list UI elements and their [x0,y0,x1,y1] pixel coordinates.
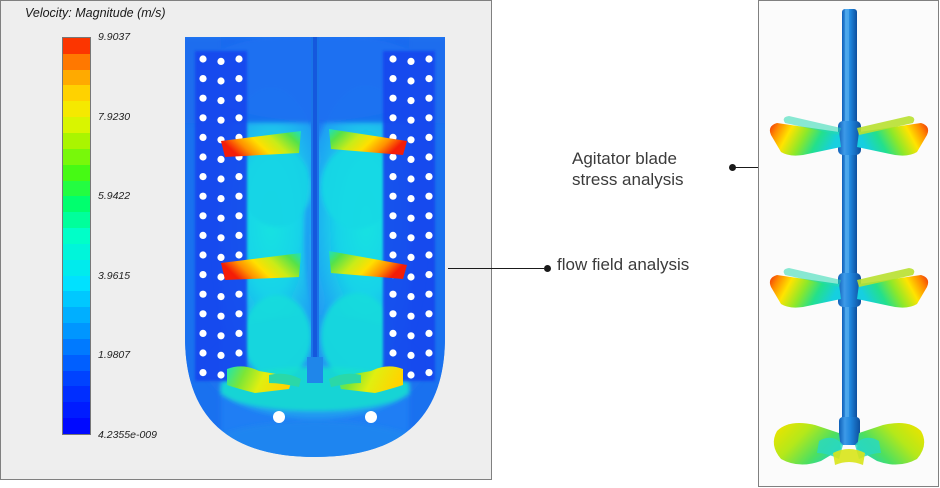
colorbar-tick-label: 5.9422 [98,190,130,202]
coil-tube [235,330,242,337]
coil-tube [199,291,206,298]
colorbar-band [63,212,90,228]
coil-tube [235,95,242,102]
colorbar-band [63,196,90,212]
coil-tube [407,293,414,300]
coil-tube [235,310,242,317]
coil-tube [199,173,206,180]
coil-tube [217,195,224,202]
coil-tube [199,134,206,141]
colorbar-band [63,386,90,402]
flow-field-annotation-label: flow field analysis [557,254,689,275]
coil-tube [217,175,224,182]
coil-tube [425,251,432,258]
coil-tube [407,156,414,163]
coil-tube [235,349,242,356]
coil-tube [199,55,206,62]
coil-tube [425,173,432,180]
coil-tube [199,349,206,356]
colorbar-band [63,54,90,70]
impeller-upper-3d [770,116,928,156]
agitator-shaft-3d [842,9,857,441]
coil-tube [407,254,414,261]
coil-tube [389,114,396,121]
coil-tube [217,156,224,163]
coil-tube [217,215,224,222]
coil-tube [235,173,242,180]
velocity-contour-plot [181,37,449,481]
colorbar-band [63,149,90,165]
colorbar-tick-label: 4.2355e-009 [98,429,157,441]
coil-tube [389,173,396,180]
coil-tube [425,232,432,239]
coil-tube [389,212,396,219]
coil-tube [217,313,224,320]
colorbar-band [63,228,90,244]
coil-tube [199,330,206,337]
contour-svg [181,37,449,481]
vessel-interior [181,37,449,481]
coil-tube [425,291,432,298]
impeller-middle-3d [770,268,928,308]
coil-tube [407,175,414,182]
colorbar-band [63,70,90,86]
coil-tube [425,114,432,121]
coil-tube [425,95,432,102]
colorbar-band [63,418,90,434]
colorbar-band [63,323,90,339]
coil-tube [407,352,414,359]
colorbar-band [63,291,90,307]
coil-tube [217,58,224,65]
coil-tube [217,371,224,378]
coil-tube [235,55,242,62]
agitator-stress-annotation-label: Agitator blade stress analysis [572,148,683,191]
colorbar-tick-label: 7.9230 [98,111,130,123]
agitator-stress-panel [758,0,939,487]
coil-tube [217,254,224,261]
coil-tube [389,251,396,258]
coil-tube [407,234,414,241]
colorbar-band [63,101,90,117]
cfd-flow-field-panel: Velocity: Magnitude (m/s) 9.90377.92305.… [0,0,492,480]
coil-tube [235,251,242,258]
coil-tube [199,310,206,317]
coil-tube [407,313,414,320]
colorbar-tick-label: 1.9807 [98,349,130,361]
coil-tube [407,273,414,280]
flow-field-leader-dot [544,265,551,272]
coil-tube [199,95,206,102]
coil-tube [235,114,242,121]
contour-plot-title: Velocity: Magnitude (m/s) [25,6,166,20]
colorbar-band [63,133,90,149]
coil-tube [199,369,206,376]
coil-tube [425,134,432,141]
colorbar-band [63,85,90,101]
coil-tube [199,251,206,258]
colorbar-band [63,38,90,54]
lower-tube-left [273,411,285,423]
flow-field-leader-line [448,268,544,269]
coil-tube [389,349,396,356]
velocity-colorbar: 9.90377.92305.94223.96151.98074.2355e-00… [62,37,91,435]
coil-tube [425,310,432,317]
coil-tube [217,273,224,280]
impeller-lower-3d [774,417,924,465]
coil-tube [389,232,396,239]
coil-tube [217,117,224,124]
coil-tube [235,212,242,219]
coil-tube [425,349,432,356]
coil-tube [217,77,224,84]
coil-tube [425,193,432,200]
coil-tube [407,58,414,65]
coil-tube [217,97,224,104]
coil-tube [199,212,206,219]
coil-tube [407,77,414,84]
coil-tube [389,310,396,317]
coil-tube [425,271,432,278]
coil-tube [407,215,414,222]
coil-tube [217,352,224,359]
coil-tube [235,232,242,239]
coil-tube [217,293,224,300]
coil-tube [425,55,432,62]
coil-tube [235,75,242,82]
colorbar-band [63,165,90,181]
coil-tube [407,371,414,378]
colorbar-band [63,307,90,323]
coil-tube [407,332,414,339]
coil-tube [199,114,206,121]
colorbar-band [63,355,90,371]
coil-tube [425,330,432,337]
coil-tube [407,117,414,124]
agitator-stress-leader-dot [729,164,736,171]
coil-tube [199,193,206,200]
coil-tube [199,232,206,239]
coil-tube [389,95,396,102]
coil-tube [407,136,414,143]
lower-tube-right [365,411,377,423]
colorbar-band [63,371,90,387]
colorbar-band [63,117,90,133]
coil-tube [425,153,432,160]
colorbar-gradient [62,37,91,435]
coil-tube [199,271,206,278]
agitator-3d-svg [759,1,938,486]
coil-tube [425,75,432,82]
colorbar-band [63,244,90,260]
colorbar-tick-label: 3.9615 [98,270,130,282]
colorbar-band [63,402,90,418]
colorbar-band [63,339,90,355]
coil-tube [217,332,224,339]
colorbar-tick-label: 9.9037 [98,31,130,43]
coil-tube [407,97,414,104]
coil-tube [425,212,432,219]
colorbar-band [63,276,90,292]
coil-tube [389,193,396,200]
coil-tube [235,291,242,298]
coil-tube [389,153,396,160]
coil-tube [389,291,396,298]
coil-tube [407,195,414,202]
coil-tube [217,234,224,241]
coil-tube [389,55,396,62]
colorbar-band [63,260,90,276]
coil-tube [389,330,396,337]
colorbar-band [63,181,90,197]
coil-tube [199,153,206,160]
coil-tube [235,193,242,200]
coil-tube [199,75,206,82]
coil-tube [389,75,396,82]
coil-tube [425,369,432,376]
